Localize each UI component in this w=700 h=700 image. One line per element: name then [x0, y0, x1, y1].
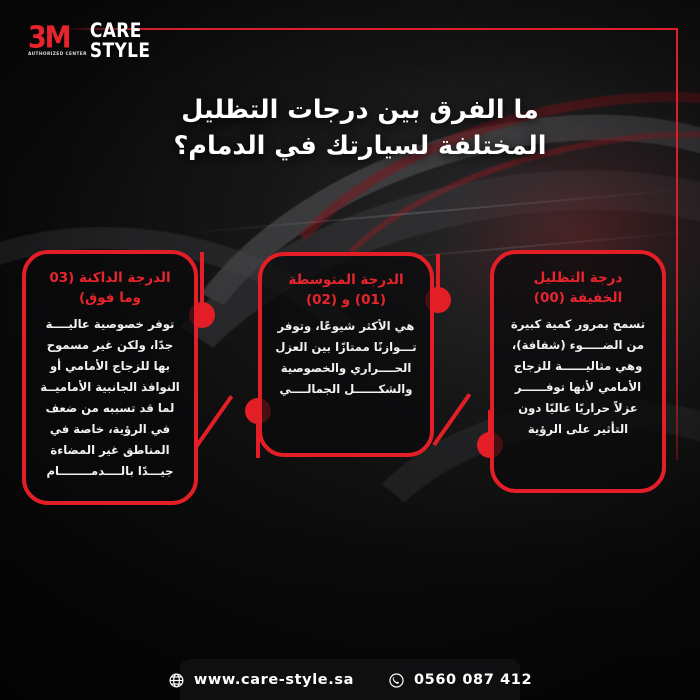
- logo-care-text: CARE: [90, 23, 151, 41]
- phone-icon: [388, 672, 405, 689]
- footer-website[interactable]: www.care-style.sa: [168, 672, 354, 689]
- frame-line-right: [676, 28, 678, 460]
- brand-logo: 3M AUTHORIZED CENTER CARE STYLE: [28, 24, 150, 58]
- logo-3m-block: 3M AUTHORIZED CENTER: [28, 24, 87, 58]
- card-dark-tint-body: توفر خصوصية عاليــــة جدًا، ولكن غير مسم…: [39, 314, 181, 482]
- card-dark-tint[interactable]: الدرجة الداكنة (03 وما فوق) توفر خصوصية …: [22, 250, 198, 505]
- infographic-poster: 3M AUTHORIZED CENTER CARE STYLE ما الفرق…: [0, 0, 700, 700]
- page-title: ما الفرق بين درجات التظليل المختلفة لسيا…: [150, 92, 570, 164]
- frame-line-top: [62, 28, 678, 30]
- card-light-tint[interactable]: درجة التظليل الخفيفة (00) تسمح بمرور كمي…: [490, 250, 666, 493]
- footer-phone[interactable]: 0560 087 412: [388, 672, 532, 689]
- card-medium-tint-title: الدرجة المتوسطة (01) و (02): [275, 270, 417, 310]
- footer-website-text: www.care-style.sa: [194, 672, 354, 688]
- connector-line: [200, 252, 204, 308]
- footer-phone-text: 0560 087 412: [414, 672, 532, 688]
- globe-icon: [168, 672, 185, 689]
- footer-contact-bar: www.care-style.sa 0560 087 412: [0, 663, 700, 697]
- logo-3m-text: 3M: [28, 24, 69, 52]
- card-light-tint-body: تسمح بمرور كمية كبيرة من الضـــــوء (شفا…: [507, 314, 649, 440]
- logo-style-text: STYLE: [90, 43, 151, 61]
- card-medium-tint[interactable]: الدرجة المتوسطة (01) و (02) هي الأكثر شي…: [258, 252, 434, 457]
- card-light-tint-title: درجة التظليل الخفيفة (00): [507, 268, 649, 308]
- card-medium-tint-body: هي الأكثر شيوعًا، وتوفر تـــوازنًا ممتاز…: [275, 316, 417, 400]
- logo-wordmark: CARE STYLE: [90, 23, 151, 58]
- card-dark-tint-title: الدرجة الداكنة (03 وما فوق): [39, 268, 181, 308]
